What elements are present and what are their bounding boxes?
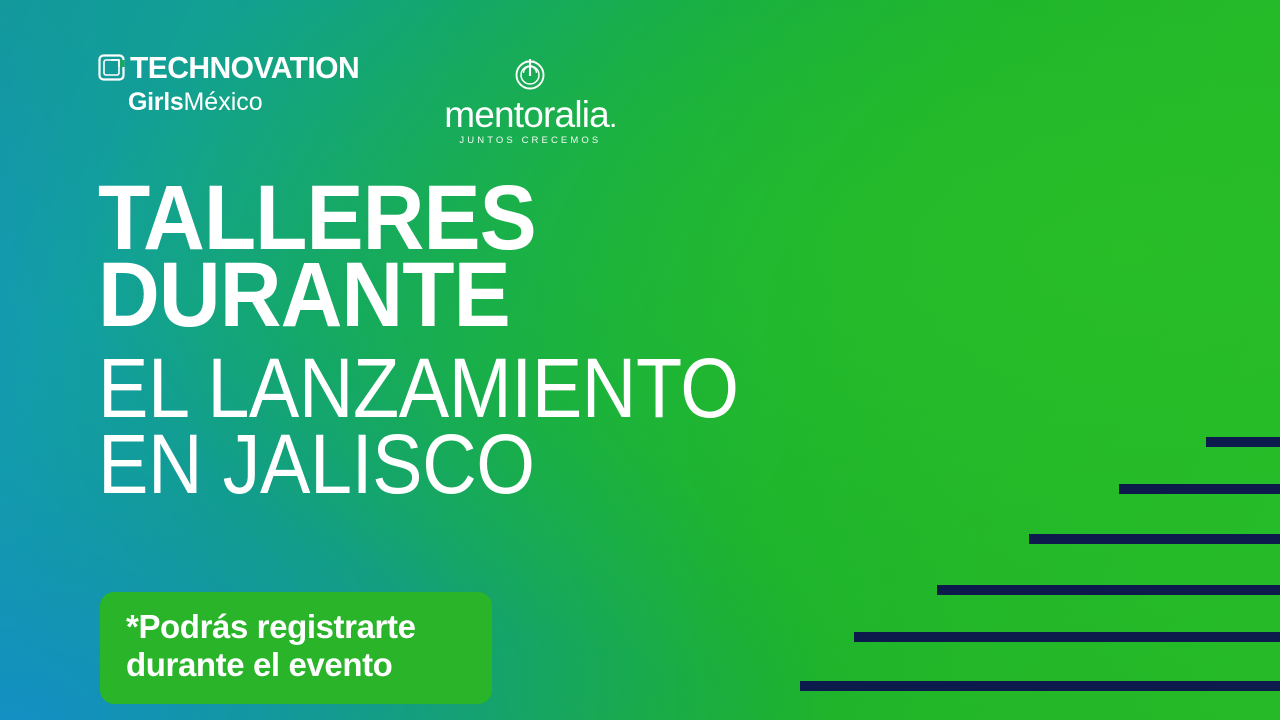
technovation-subtitle: GirlsMéxico	[128, 90, 263, 115]
mentoralia-circle-mark-icon	[510, 54, 550, 94]
mentoralia-wordmark: mentoralia.	[444, 96, 616, 133]
decorative-bar	[1029, 534, 1280, 544]
decorative-bar	[1119, 484, 1280, 494]
decorative-bar	[937, 585, 1280, 595]
headline-block: TALLERES DURANTE EL LANZAMIENTO EN JALIS…	[98, 178, 810, 502]
technovation-wordmark: TECHNOVATION	[130, 52, 359, 83]
logo-row: TECHNOVATION GirlsMéxico mentoralia. JUN…	[98, 52, 617, 146]
registration-note-badge: *Podrás registrarte durante el evento	[100, 592, 492, 704]
mentoralia-tagline: JUNTOS CRECEMOS	[459, 136, 601, 146]
technovation-bracket-mark-icon	[98, 54, 125, 81]
decorative-bar	[800, 681, 1280, 691]
headline-line-4: EN JALISCO	[98, 428, 739, 502]
technovation-logo-top: TECHNOVATION	[98, 52, 366, 83]
mentoralia-logo: mentoralia. JUNTOS CRECEMOS	[444, 52, 616, 146]
registration-note-line-2: durante el evento	[126, 646, 470, 684]
mentoralia-wordmark-text: mentoralia	[444, 94, 609, 135]
promotional-poster: TECHNOVATION GirlsMéxico mentoralia. JUN…	[0, 0, 1280, 720]
decorative-bar	[854, 632, 1280, 642]
mentoralia-wordmark-dot: .	[609, 101, 617, 134]
registration-note-line-1: *Podrás registrarte	[126, 608, 470, 646]
technovation-logo: TECHNOVATION GirlsMéxico	[98, 52, 366, 115]
technovation-subtitle-mexico: México	[183, 88, 262, 116]
headline-line-2: DURANTE	[98, 255, 760, 336]
technovation-subtitle-girls: Girls	[128, 88, 183, 116]
headline-line-3: EL LANZAMIENTO	[98, 352, 739, 426]
decorative-bar	[1206, 437, 1280, 447]
